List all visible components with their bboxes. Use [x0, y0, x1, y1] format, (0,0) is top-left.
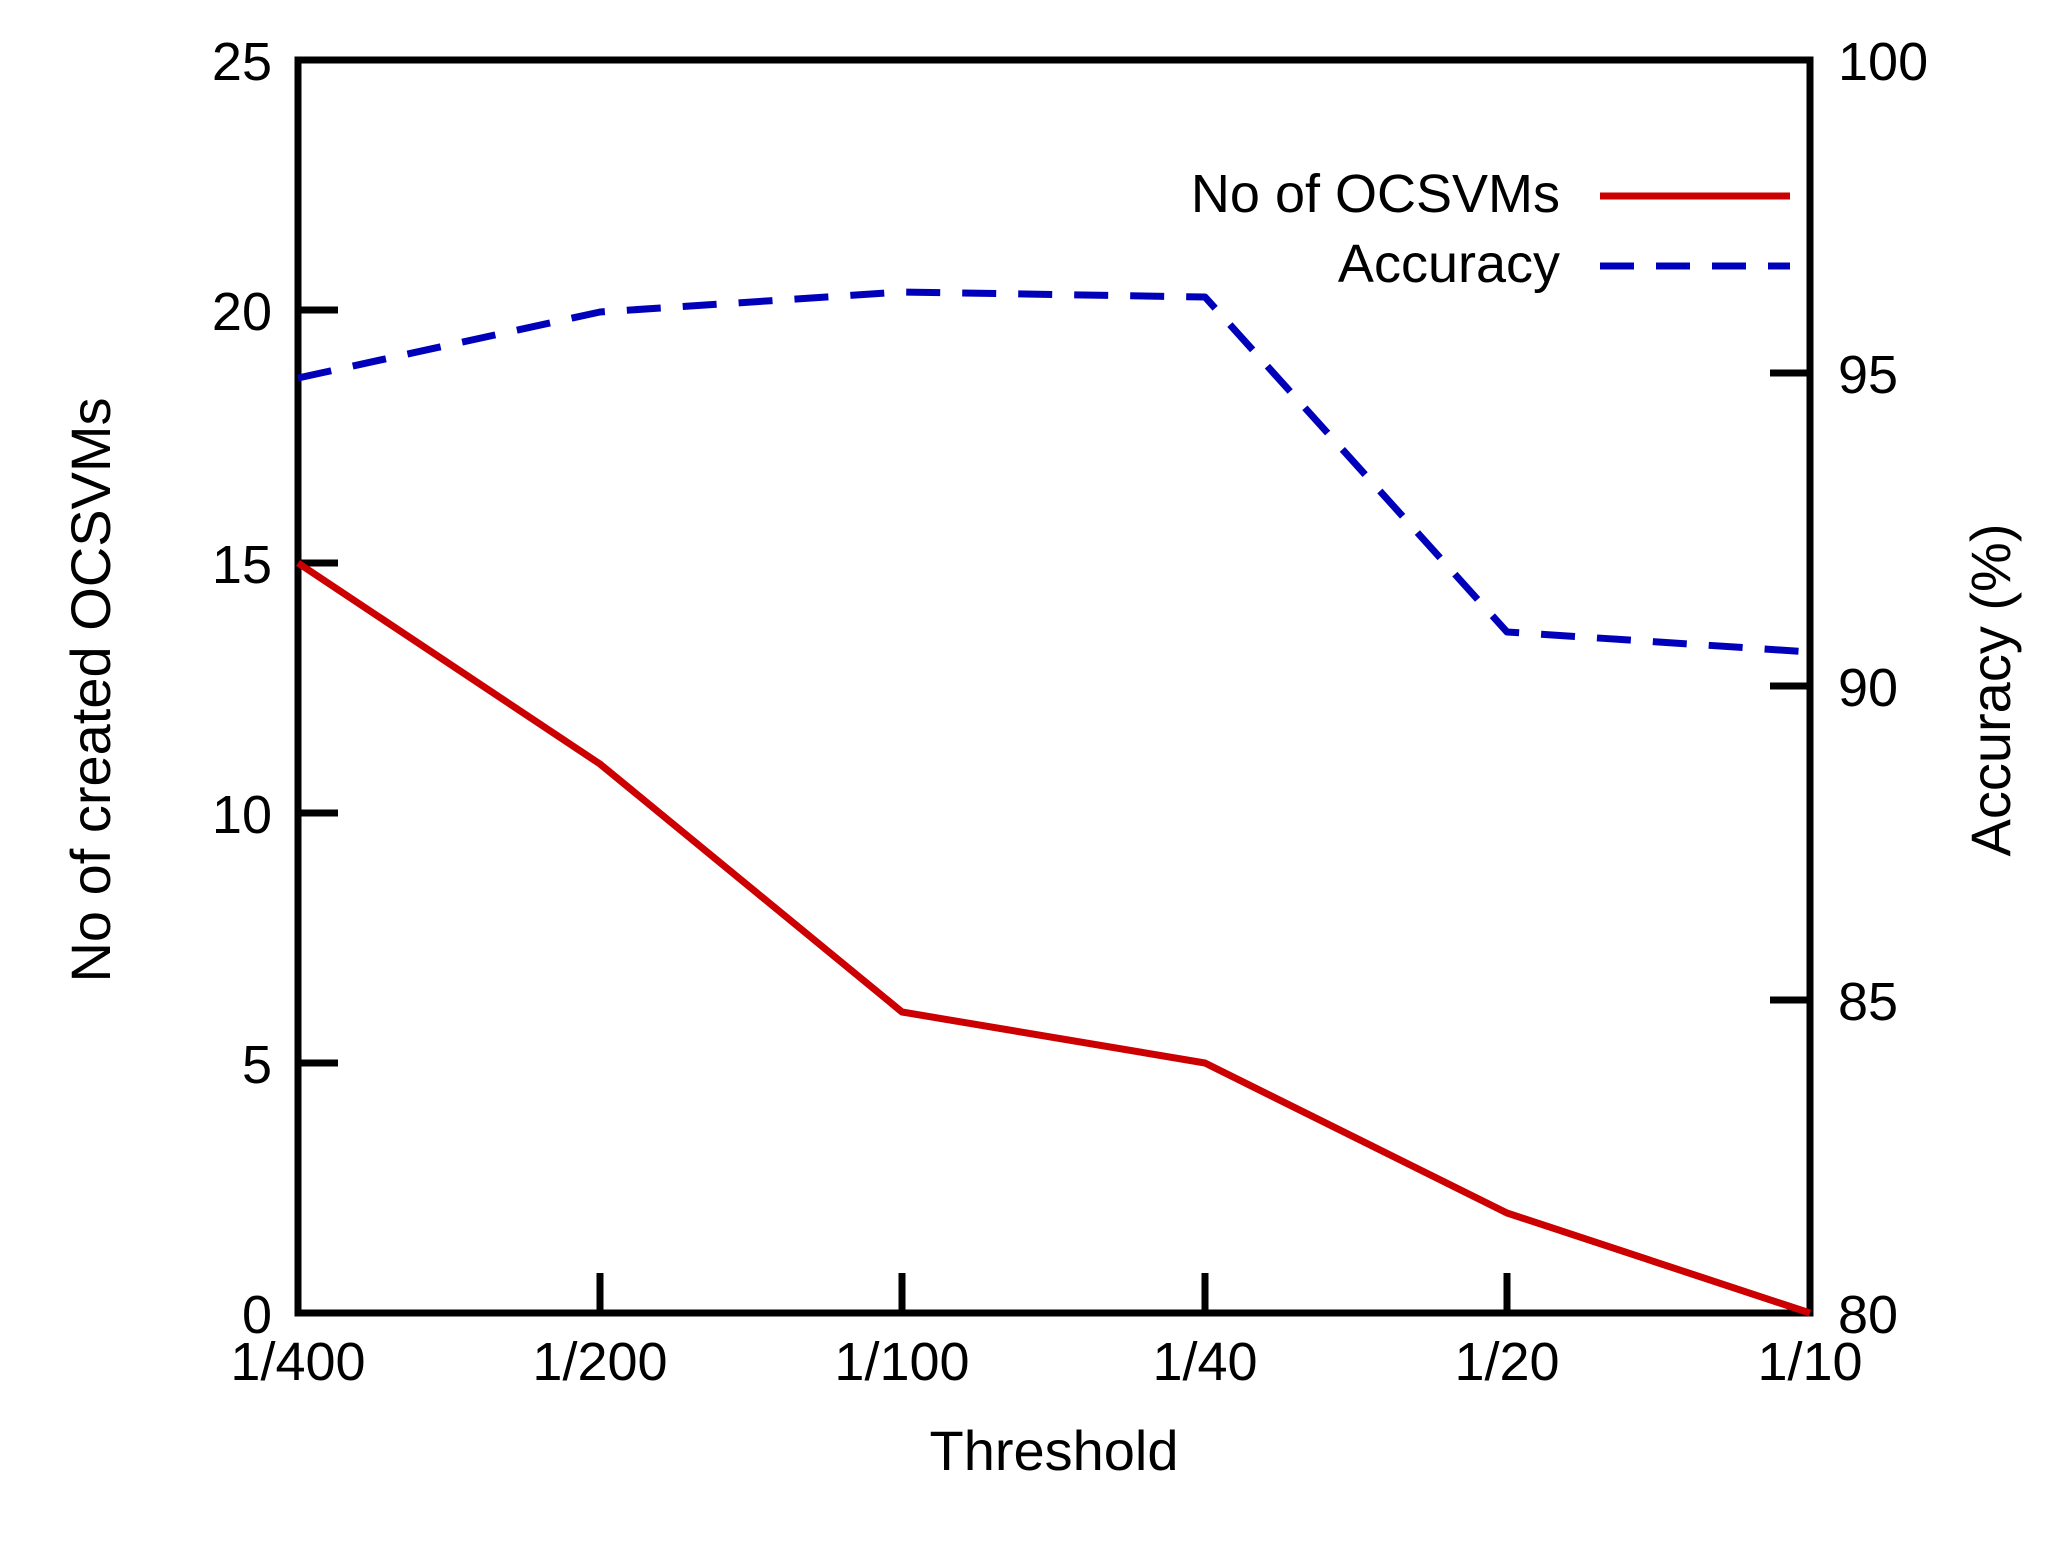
x-tick-label: 1/10 [1757, 1332, 1862, 1392]
y2-axis-title: Accuracy (%) [1959, 524, 2022, 857]
left-tick-label: 15 [212, 535, 272, 595]
series-line-accuracy [298, 292, 1810, 652]
right-tick-label: 90 [1838, 658, 1898, 718]
right-tick-label: 95 [1838, 345, 1898, 405]
x-tick-label: 1/200 [532, 1332, 667, 1392]
right-axis-ticks [1770, 60, 1810, 1313]
chart-figure: 25 20 15 10 5 0 100 95 90 85 80 1/400 1/… [0, 0, 2064, 1552]
left-tick-label: 10 [212, 785, 272, 845]
x-tick-label: 1/400 [230, 1332, 365, 1392]
plot-frame [298, 60, 1810, 1313]
legend: No of OCSVMs Accuracy [1191, 164, 1790, 294]
legend-label-accuracy: Accuracy [1338, 234, 1560, 294]
series-line-no-of-ocsvms [298, 563, 1810, 1313]
right-tick-label: 100 [1838, 32, 1928, 92]
x-tick-label: 1/40 [1152, 1332, 1257, 1392]
x-tick-label: 1/20 [1454, 1332, 1559, 1392]
left-tick-label: 5 [242, 1035, 272, 1095]
left-axis-ticks [298, 60, 338, 1313]
legend-label-no-of-ocsvms: No of OCSVMs [1191, 164, 1560, 224]
right-tick-label: 85 [1838, 972, 1898, 1032]
x-axis-tick-labels: 1/400 1/200 1/100 1/40 1/20 1/10 [230, 1332, 1862, 1392]
left-axis-tick-labels: 25 20 15 10 5 0 [212, 32, 272, 1345]
x-axis-ticks [298, 1273, 1810, 1313]
line-chart-svg: 25 20 15 10 5 0 100 95 90 85 80 1/400 1/… [0, 0, 2064, 1552]
y-axis-title: No of created OCSVMs [59, 397, 122, 982]
x-tick-label: 1/100 [834, 1332, 969, 1392]
x-axis-title: Threshold [929, 1419, 1178, 1482]
left-tick-label: 20 [212, 282, 272, 342]
left-tick-label: 25 [212, 32, 272, 92]
right-axis-tick-labels: 100 95 90 85 80 [1838, 32, 1928, 1345]
